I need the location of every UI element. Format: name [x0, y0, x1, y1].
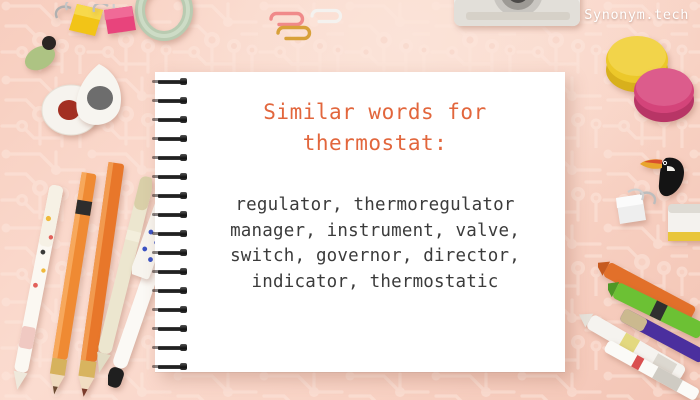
macaron-pink-icon — [628, 62, 700, 126]
jar-white-icon — [666, 198, 700, 250]
synonym-line: indicator, thermostatic — [185, 270, 565, 296]
binder-clip-white-icon — [608, 186, 664, 230]
eraser-avocado-green-icon — [20, 36, 66, 72]
eraser-white-gray-dot-icon — [70, 62, 128, 130]
camera-icon — [448, 0, 588, 40]
binder-clip-pink-icon — [92, 4, 150, 40]
synonym-list: regulator, thermoregulator manager, inst… — [185, 193, 565, 295]
note-title-line-1: Similar words for — [185, 97, 565, 128]
marker-gray-icon — [596, 330, 700, 400]
synonym-line: switch, governor, director, — [185, 244, 565, 270]
site-watermark: Synonym.tech — [584, 7, 689, 23]
paper-clip-gold-icon — [272, 22, 316, 44]
synonym-line: manager, instrument, valve, — [185, 219, 565, 245]
note-title-line-2: thermostat: — [185, 128, 565, 159]
note-text-block: Similar words for thermostat: regulator,… — [185, 72, 565, 372]
synonym-line: regulator, thermoregulator — [185, 193, 565, 219]
